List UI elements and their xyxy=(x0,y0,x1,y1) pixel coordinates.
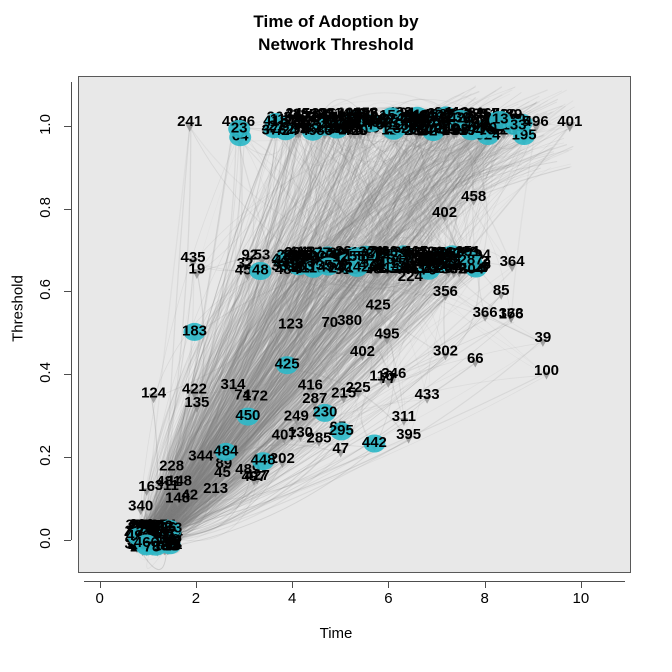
node-id-label: 183 xyxy=(182,322,207,339)
y-tick-mark xyxy=(64,540,71,541)
node-id-label: 433 xyxy=(415,386,440,403)
node-id-label: 311 xyxy=(392,408,416,425)
y-tick-label: 0.0 xyxy=(0,530,56,547)
chart-title-line-1: Time of Adoption by xyxy=(0,10,672,33)
x-axis-line xyxy=(84,581,625,582)
node-id-label: 481 xyxy=(412,107,437,124)
chart-title-line-2: Network Threshold xyxy=(0,33,672,56)
x-tick-mark xyxy=(485,581,486,588)
node-id-label: 495 xyxy=(374,326,399,343)
node-id-label: 111 xyxy=(270,111,293,128)
node-id-label: 302 xyxy=(433,343,458,360)
node-id-label: 366 xyxy=(473,304,498,321)
node-id-label: 382 xyxy=(309,106,334,123)
node-id-label: 484 xyxy=(213,442,239,459)
node-id-label: 340 xyxy=(128,497,153,514)
y-tick-mark xyxy=(64,291,71,292)
x-tick-label: 6 xyxy=(368,590,408,607)
y-tick-label: 0.4 xyxy=(0,364,56,381)
node-id-label: 85 xyxy=(493,282,510,299)
x-axis-title: Time xyxy=(0,625,672,642)
y-tick-label: 0.6 xyxy=(0,281,56,298)
node-id-label: 124 xyxy=(141,385,167,402)
node-id-label: 230 xyxy=(312,403,337,420)
plot-panel: 2412064986423354964011954783244351992533… xyxy=(78,76,631,573)
node-id-label: 344 xyxy=(188,448,214,465)
node-id-label: 47 xyxy=(332,440,349,457)
node-id-label: 78 xyxy=(144,538,161,555)
node-id-label: 66 xyxy=(467,350,484,367)
y-tick-mark xyxy=(64,126,71,127)
node-id-label: 401 xyxy=(557,113,582,130)
node-id-label: 363 xyxy=(499,305,524,322)
x-tick-mark xyxy=(388,581,389,588)
node-id-label: 356 xyxy=(433,283,458,300)
x-tick-mark xyxy=(292,581,293,588)
node-id-label: 16 xyxy=(138,478,155,495)
y-tick-label: 0.2 xyxy=(0,447,56,464)
x-tick-mark xyxy=(581,581,582,588)
y-tick-mark xyxy=(64,374,71,375)
node-id-label: 402 xyxy=(350,343,375,360)
node-id-label: 481 xyxy=(156,473,181,490)
node-id-label: 224 xyxy=(398,268,424,285)
node-id-label: 402 xyxy=(432,204,457,221)
node-id-label: 213 xyxy=(203,480,228,497)
node-id-label: 295 xyxy=(329,422,354,439)
y-tick-label: 1.0 xyxy=(0,116,56,133)
plot-svg: 2412064986423354964011954783244351992533… xyxy=(79,77,630,572)
node-id-label: 409 xyxy=(293,248,318,265)
node-id-label: 77 xyxy=(380,370,397,387)
node-id-label: 211 xyxy=(138,521,162,538)
y-tick-mark xyxy=(64,209,71,210)
y-tick-label: 0.8 xyxy=(0,199,56,216)
node-id-label: 357 xyxy=(452,122,477,139)
node-id-label: 48 xyxy=(252,262,269,279)
node-id-label: 364 xyxy=(500,253,526,270)
node-id-label: 472 xyxy=(359,256,384,273)
node-id-label: 382 xyxy=(441,260,466,277)
node-id-label: 448 xyxy=(251,452,276,469)
chart-title: Time of Adoption by Network Threshold xyxy=(0,10,672,56)
figure-canvas: Time of Adoption by Network Threshold 24… xyxy=(0,0,672,672)
x-tick-mark xyxy=(196,581,197,588)
node-id-label: 450 xyxy=(235,407,260,424)
node-id-label: 19 xyxy=(189,260,206,277)
y-axis-title: Threshold xyxy=(10,249,27,369)
node-id-label: 425 xyxy=(275,356,300,373)
node-id-label: 458 xyxy=(461,188,486,205)
node-id-label: 494 xyxy=(318,259,344,276)
node-id-label: 123 xyxy=(278,315,303,332)
node-id-label: 148 xyxy=(165,489,190,506)
node-id-label: 416 xyxy=(298,376,323,393)
node-id-label: 380 xyxy=(337,312,362,329)
y-axis-line xyxy=(71,82,72,540)
x-tick-label: 8 xyxy=(465,590,505,607)
node-id-label: 172 xyxy=(243,387,268,404)
node-id-label: 100 xyxy=(534,362,559,379)
x-tick-label: 0 xyxy=(80,590,120,607)
x-tick-label: 2 xyxy=(176,590,216,607)
node-id-label: 70 xyxy=(321,314,338,331)
node-id-label: 425 xyxy=(366,297,391,314)
node-id-label: 241 xyxy=(177,113,202,130)
x-tick-mark xyxy=(100,581,101,588)
node-id-label: 395 xyxy=(396,426,421,443)
node-id-label: 23 xyxy=(231,119,248,136)
x-tick-label: 10 xyxy=(561,590,601,607)
node-id-label: 402 xyxy=(363,114,388,131)
x-tick-label: 4 xyxy=(272,590,312,607)
node-id-label: 130 xyxy=(288,424,313,441)
node-id-label: 225 xyxy=(346,379,371,396)
node-id-label: 75 xyxy=(406,247,423,264)
node-id-label: 442 xyxy=(362,434,387,451)
node-id-label: 251 xyxy=(455,243,480,260)
node-id-label: 63 xyxy=(381,243,398,260)
node-id-label: 249 xyxy=(284,407,309,424)
y-tick-mark xyxy=(64,457,71,458)
node-id-label: 39 xyxy=(535,329,552,346)
node-id-label: 135 xyxy=(184,394,209,411)
